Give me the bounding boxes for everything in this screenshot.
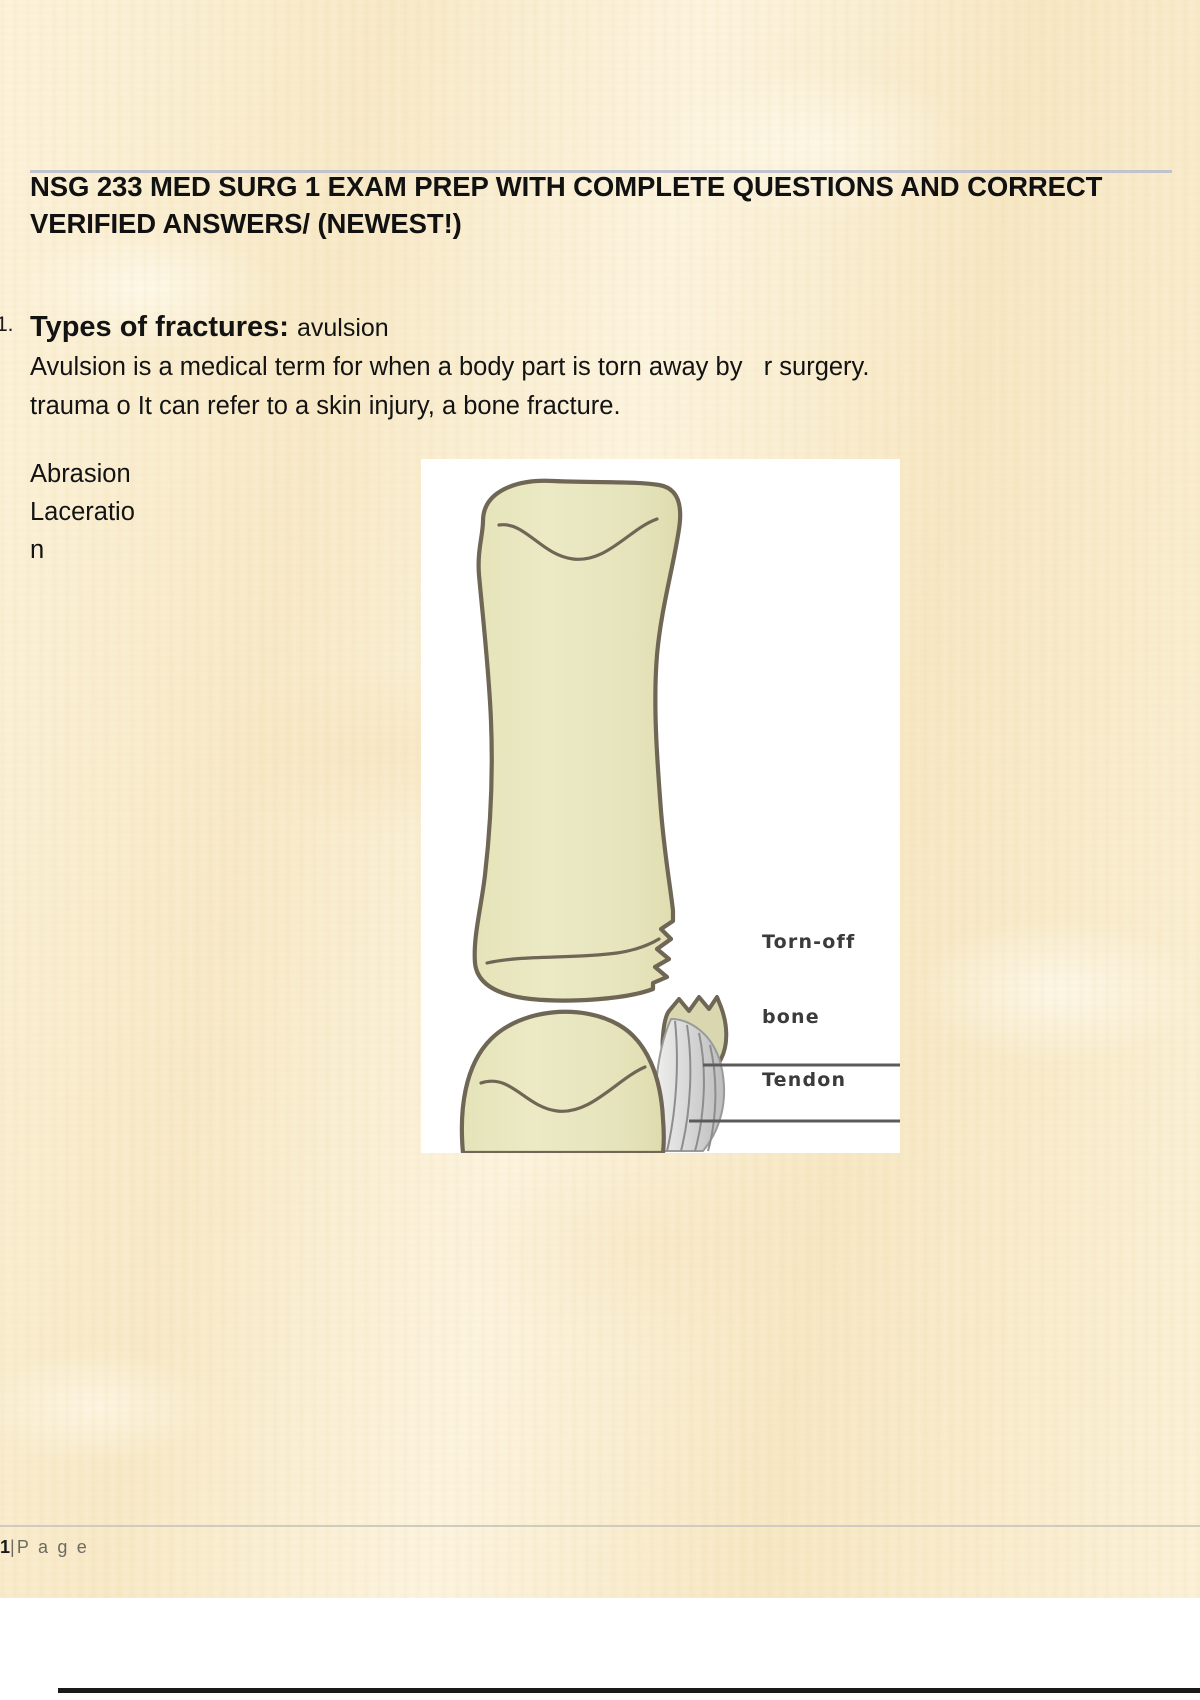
footer-separator: |: [10, 1537, 17, 1557]
footer-divider: [0, 1525, 1200, 1527]
sub-item-abrasion: Abrasion: [30, 455, 230, 493]
figure-label-torn-off-bone: Torn-off bone: [762, 880, 855, 1080]
question-prompt: Types of fractures:: [30, 311, 289, 343]
upper-bone-shape: [475, 481, 681, 1001]
sub-item-laceration: Laceratio: [30, 493, 230, 531]
footer-page-word: P a g e: [17, 1537, 89, 1557]
question-number: 1.: [0, 313, 14, 337]
figure-label-torn-off-bone-line1: Torn-off: [762, 930, 855, 955]
explanation-line-1: Avulsion is a medical term for when a bo…: [30, 348, 1200, 387]
figure-label-tendon: Tendon: [762, 1068, 846, 1093]
document-page: NSG 233 MED SURG 1 EXAM PREP WITH COMPLE…: [0, 0, 1200, 1700]
footer-page-number: 1: [0, 1537, 10, 1557]
explanation-line-2: trauma o It can refer to a skin injury, …: [30, 387, 1200, 426]
sub-item-laceration-overflow: n: [30, 531, 230, 569]
question-line: Types of fractures: avulsion: [30, 308, 1130, 347]
page-footer: 1|P a g e: [0, 1537, 89, 1558]
viewer-bottom-divider: [58, 1688, 1200, 1693]
page-title: NSG 233 MED SURG 1 EXAM PREP WITH COMPLE…: [30, 168, 1110, 242]
question-answer: avulsion: [297, 314, 389, 342]
figure-label-torn-off-bone-line2: bone: [762, 1005, 855, 1030]
